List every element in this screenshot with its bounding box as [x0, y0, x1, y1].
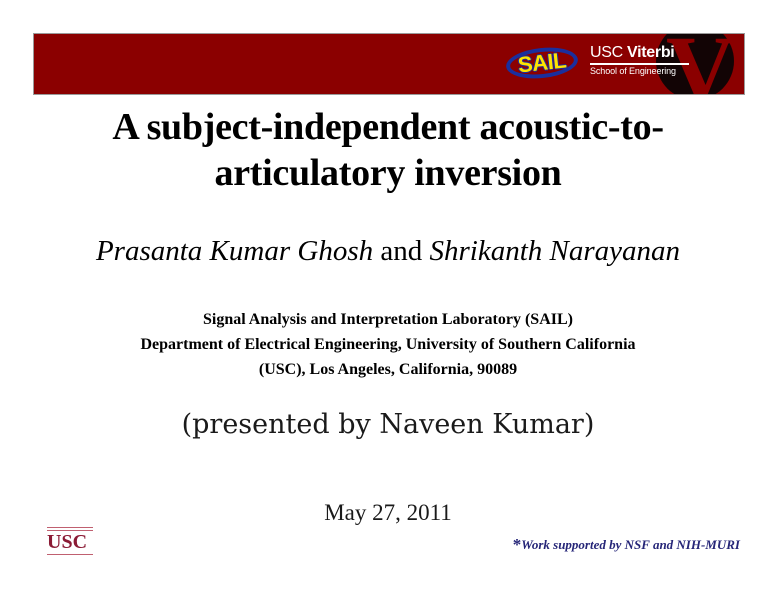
usc-viterbi-wordmark: USC Viterbi School of Engineering [590, 44, 690, 77]
usc-logo: USC [47, 527, 95, 555]
affiliation-block: Signal Analysis and Interpretation Labor… [48, 307, 728, 382]
presentation-date: May 27, 2011 [38, 499, 738, 527]
footnote-text: Work supported by NSF and NIH-MURI [521, 537, 740, 552]
slide-title-line-2: articulatory inversion [38, 150, 738, 196]
presenter-line: (presented by Naveen Kumar) [38, 408, 738, 442]
footnote-asterisk-marker: * [513, 535, 522, 554]
presentation-title-slide: V SAIL USC Viterbi School of Engineering… [0, 0, 776, 600]
affiliation-line-1: Signal Analysis and Interpretation Labor… [48, 307, 728, 332]
affiliation-line-2: Department of Electrical Engineering, Un… [48, 332, 728, 357]
viterbi-subtitle-text: School of Engineering [590, 66, 690, 77]
viterbi-primary-line: USC Viterbi [590, 44, 690, 62]
usc-logo-text: USC [47, 531, 95, 553]
viterbi-divider-rule [590, 63, 689, 65]
viterbi-name-text: Viterbi [627, 44, 674, 61]
author-name-second: Shrikanth Narayanan [430, 235, 681, 267]
sail-logo-text: SAIL [504, 42, 579, 83]
slide-title-line-1: A subject-independent acoustic-to- [38, 104, 738, 150]
funding-footnote: *Work supported by NSF and NIH-MURI [420, 536, 740, 553]
author-name-first: Prasanta Kumar Ghosh [96, 235, 373, 267]
slide-title: A subject-independent acoustic-to- artic… [38, 104, 738, 196]
author-list: Prasanta Kumar Ghosh and Shrikanth Naray… [38, 233, 738, 269]
affiliation-line-3: (USC), Los Angeles, California, 90089 [48, 357, 728, 382]
sail-logo: SAIL [506, 46, 582, 82]
author-conjunction: and [373, 235, 429, 267]
usc-logo-rule-bottom [47, 554, 93, 555]
viterbi-usc-text: USC [590, 44, 627, 61]
